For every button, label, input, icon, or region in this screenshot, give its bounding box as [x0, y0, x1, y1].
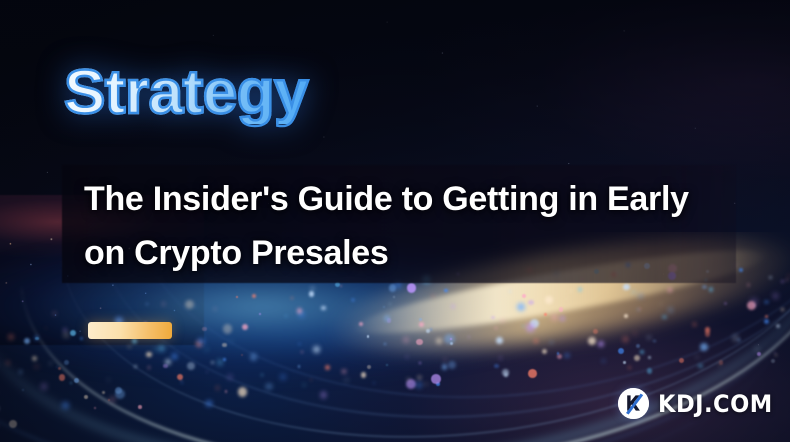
bokeh-dot [359, 322, 363, 326]
bokeh-dot [499, 356, 503, 360]
bokeh-dot [406, 356, 408, 358]
bokeh-dot [662, 315, 666, 319]
bokeh-dot [107, 379, 110, 382]
bokeh-dot [158, 345, 166, 353]
bokeh-dot [442, 364, 448, 370]
bokeh-dot [495, 327, 497, 329]
bokeh-dot [775, 354, 777, 356]
bokeh-dot [171, 353, 178, 360]
bokeh-dot [301, 351, 303, 353]
bokeh-dot [241, 354, 244, 357]
bokeh-dot [24, 338, 30, 344]
bokeh-dot [311, 287, 315, 291]
bokeh-dot [764, 319, 769, 324]
bokeh-dot [618, 348, 624, 354]
bokeh-dot [419, 362, 421, 364]
bokeh-dot [679, 358, 684, 363]
bokeh-dot [230, 340, 232, 342]
bokeh-dot [448, 361, 456, 369]
bokeh-dot [225, 390, 228, 393]
bokeh-dot [367, 365, 371, 369]
bokeh-dot [35, 365, 38, 368]
bokeh-dot [705, 331, 711, 337]
bokeh-dot [628, 366, 631, 369]
bokeh-dot [298, 365, 300, 367]
bokeh-dot [321, 306, 326, 311]
bokeh-dot [578, 287, 583, 292]
bokeh-dot [564, 353, 569, 358]
bokeh-dot [187, 362, 195, 370]
strategy-hero-banner: Strategy The Insider's Guide to Getting … [0, 0, 790, 442]
bokeh-dot [162, 302, 165, 305]
bokeh-dot [426, 329, 430, 333]
bokeh-dot [345, 379, 347, 381]
bokeh-dot [197, 338, 204, 345]
bokeh-dot [325, 365, 330, 370]
bokeh-dot [384, 315, 391, 322]
bokeh-dot [624, 287, 627, 290]
bokeh-dot [45, 327, 47, 329]
bokeh-dot [222, 343, 227, 348]
bokeh-dot [389, 303, 391, 305]
bokeh-dot [59, 374, 66, 381]
bokeh-dot [367, 335, 370, 338]
bokeh-dot [297, 308, 303, 314]
category-kicker: Strategy [64, 62, 308, 124]
bokeh-dot [517, 303, 525, 311]
bokeh-dot [736, 264, 738, 266]
bokeh-dot [634, 332, 636, 334]
bokeh-dot [639, 294, 643, 298]
bokeh-dot [526, 323, 535, 332]
bokeh-dot [181, 381, 184, 384]
bokeh-dot [444, 359, 446, 361]
bokeh-dot [533, 338, 539, 344]
bokeh-dot [49, 362, 52, 365]
bokeh-dot [496, 337, 503, 344]
bokeh-dot [62, 402, 69, 409]
bokeh-dot [509, 290, 511, 292]
bokeh-dot [84, 395, 88, 399]
bokeh-dot [70, 330, 76, 336]
bokeh-dot [769, 276, 772, 279]
bokeh-dot [202, 327, 207, 332]
bokeh-dot [154, 348, 157, 351]
bokeh-dot [138, 405, 142, 409]
bokeh-dot [185, 300, 195, 310]
bokeh-dot [660, 303, 662, 305]
bokeh-dot [361, 372, 367, 378]
bokeh-dot [522, 325, 525, 328]
bokeh-dot [285, 315, 287, 317]
bokeh-dot [773, 293, 779, 299]
bokeh-dot [602, 360, 604, 362]
bokeh-dot [501, 319, 504, 322]
bokeh-dot [705, 279, 707, 281]
bokeh-dot [698, 364, 703, 369]
bokeh-dot [494, 364, 499, 369]
bokeh-dot [764, 300, 768, 304]
bokeh-dot [313, 346, 320, 353]
bokeh-dot [504, 373, 509, 378]
bokeh-dot [653, 340, 656, 343]
bokeh-dot [565, 298, 567, 300]
bokeh-dot [393, 296, 395, 298]
bokeh-dot [19, 370, 22, 373]
bokeh-dot [163, 364, 168, 369]
bokeh-dot [280, 374, 286, 380]
bokeh-dot [588, 337, 596, 345]
bokeh-dot [134, 365, 137, 368]
bokeh-dot [696, 356, 698, 358]
bokeh-dot [757, 352, 761, 356]
bokeh-dot [102, 391, 105, 394]
bokeh-dot [528, 369, 537, 378]
bokeh-dot [94, 407, 96, 409]
bokeh-dot [419, 322, 425, 328]
bokeh-dot [41, 383, 48, 390]
bokeh-dot [384, 343, 386, 345]
bokeh-dot [404, 338, 409, 343]
bokeh-dot [747, 283, 751, 287]
brand-name: KDJ.COM [658, 390, 773, 418]
bokeh-dot [205, 348, 208, 351]
bokeh-dot [351, 298, 355, 302]
bokeh-dot [739, 268, 743, 272]
bokeh-dot [624, 314, 628, 318]
bokeh-dot [432, 295, 434, 297]
bokeh-dot [706, 270, 709, 273]
bokeh-dot [310, 379, 312, 381]
bokeh-dot [320, 391, 328, 399]
bokeh-dot [415, 381, 423, 389]
bokeh-dot [195, 306, 197, 308]
bokeh-dot [544, 313, 547, 316]
bokeh-dot [425, 383, 427, 385]
bokeh-dot [265, 383, 273, 391]
bokeh-dot [451, 304, 456, 309]
bokeh-dot [724, 302, 727, 305]
bokeh-dot [786, 279, 788, 281]
bokeh-dot [291, 297, 293, 299]
bokeh-dot [418, 376, 421, 379]
bokeh-dot [640, 350, 645, 355]
bokeh-dot [545, 296, 552, 303]
bokeh-dot [709, 287, 714, 292]
bokeh-dot [559, 307, 564, 312]
kdj-monogram-icon [618, 388, 649, 419]
bokeh-dot [468, 336, 470, 338]
bokeh-dot [407, 378, 410, 381]
headline-title: The Insider's Guide to Getting in Early … [84, 172, 704, 280]
bokeh-dot [593, 329, 598, 334]
brand-logo[interactable]: KDJ.COM [618, 388, 780, 419]
bokeh-dot [407, 283, 417, 293]
bokeh-dot [252, 294, 256, 298]
bokeh-dot [238, 387, 248, 397]
bokeh-dot [34, 335, 40, 341]
bokeh-dot [776, 324, 780, 328]
bokeh-dot [781, 280, 784, 283]
bokeh-dot [373, 382, 375, 384]
bokeh-dot [9, 420, 17, 428]
bokeh-dot [115, 387, 122, 394]
bokeh-dot [394, 281, 402, 289]
bokeh-dot [668, 288, 672, 292]
bokeh-dot [6, 361, 10, 365]
bokeh-dot [702, 285, 706, 289]
bokeh-dot [236, 296, 238, 298]
bokeh-dot [383, 306, 385, 308]
bokeh-dot [342, 370, 346, 374]
accent-bar [88, 322, 172, 339]
bokeh-dot [214, 308, 217, 311]
bokeh-dot [648, 356, 651, 359]
bokeh-dot [552, 315, 557, 320]
bokeh-dot [647, 336, 651, 340]
bokeh-dot [623, 361, 625, 363]
bokeh-dot [781, 308, 784, 311]
bokeh-dot [70, 382, 72, 384]
bokeh-dot [669, 308, 673, 312]
bokeh-dot [216, 386, 220, 390]
bokeh-dot [206, 371, 208, 373]
bokeh-dot [419, 318, 422, 321]
bokeh-dot [8, 334, 14, 340]
bokeh-dot [250, 353, 257, 360]
bokeh-dot [205, 400, 213, 408]
bokeh-dot [128, 345, 131, 348]
bokeh-dot [32, 356, 37, 361]
bokeh-dot [444, 289, 447, 292]
bokeh-dot [747, 301, 756, 310]
bokeh-dot [261, 374, 263, 376]
bokeh-dot [542, 349, 547, 354]
bokeh-dot [64, 360, 69, 365]
bokeh-dot [146, 303, 148, 305]
bokeh-dot [632, 291, 634, 293]
bokeh-dot [146, 352, 152, 358]
bokeh-dot [303, 384, 305, 386]
bokeh-dot [211, 361, 214, 364]
bokeh-dot [634, 355, 640, 361]
bokeh-dot [570, 290, 572, 292]
bokeh-dot [58, 367, 61, 370]
bokeh-dot [228, 375, 232, 379]
bokeh-dot [64, 333, 69, 338]
bokeh-dot [108, 399, 110, 401]
bokeh-dot [22, 389, 24, 391]
bokeh-dot [559, 315, 566, 322]
bokeh-dot [74, 378, 79, 383]
bokeh-dot [177, 374, 183, 380]
bokeh-dot [522, 294, 527, 299]
bokeh-dot [598, 341, 604, 347]
bokeh-dot [700, 343, 708, 351]
bokeh-dot [431, 374, 441, 384]
bokeh-dot [622, 336, 629, 343]
bokeh-dot [109, 396, 116, 403]
bokeh-dot [386, 364, 388, 366]
bokeh-dot [242, 324, 248, 330]
bokeh-dot [53, 312, 56, 315]
bokeh-dot [719, 360, 723, 364]
bokeh-dot [755, 347, 758, 350]
bokeh-dot [259, 313, 261, 315]
bokeh-dot [491, 316, 495, 320]
bokeh-dot [647, 368, 653, 374]
bokeh-dot [636, 344, 640, 348]
bokeh-dot [80, 337, 83, 340]
bokeh-dot [765, 315, 768, 318]
bokeh-dot [223, 324, 233, 334]
bokeh-dot [298, 343, 301, 346]
bokeh-dot [528, 300, 533, 305]
bokeh-dot [63, 328, 67, 332]
bokeh-dot [693, 323, 696, 326]
bokeh-dot [416, 339, 422, 345]
bokeh-dot [771, 359, 775, 363]
bokeh-dot [550, 341, 553, 344]
bokeh-dot [309, 291, 315, 297]
bokeh-dot [223, 358, 226, 361]
bokeh-dot [218, 360, 223, 365]
bokeh-dot [148, 366, 151, 369]
bokeh-dot [436, 338, 442, 344]
